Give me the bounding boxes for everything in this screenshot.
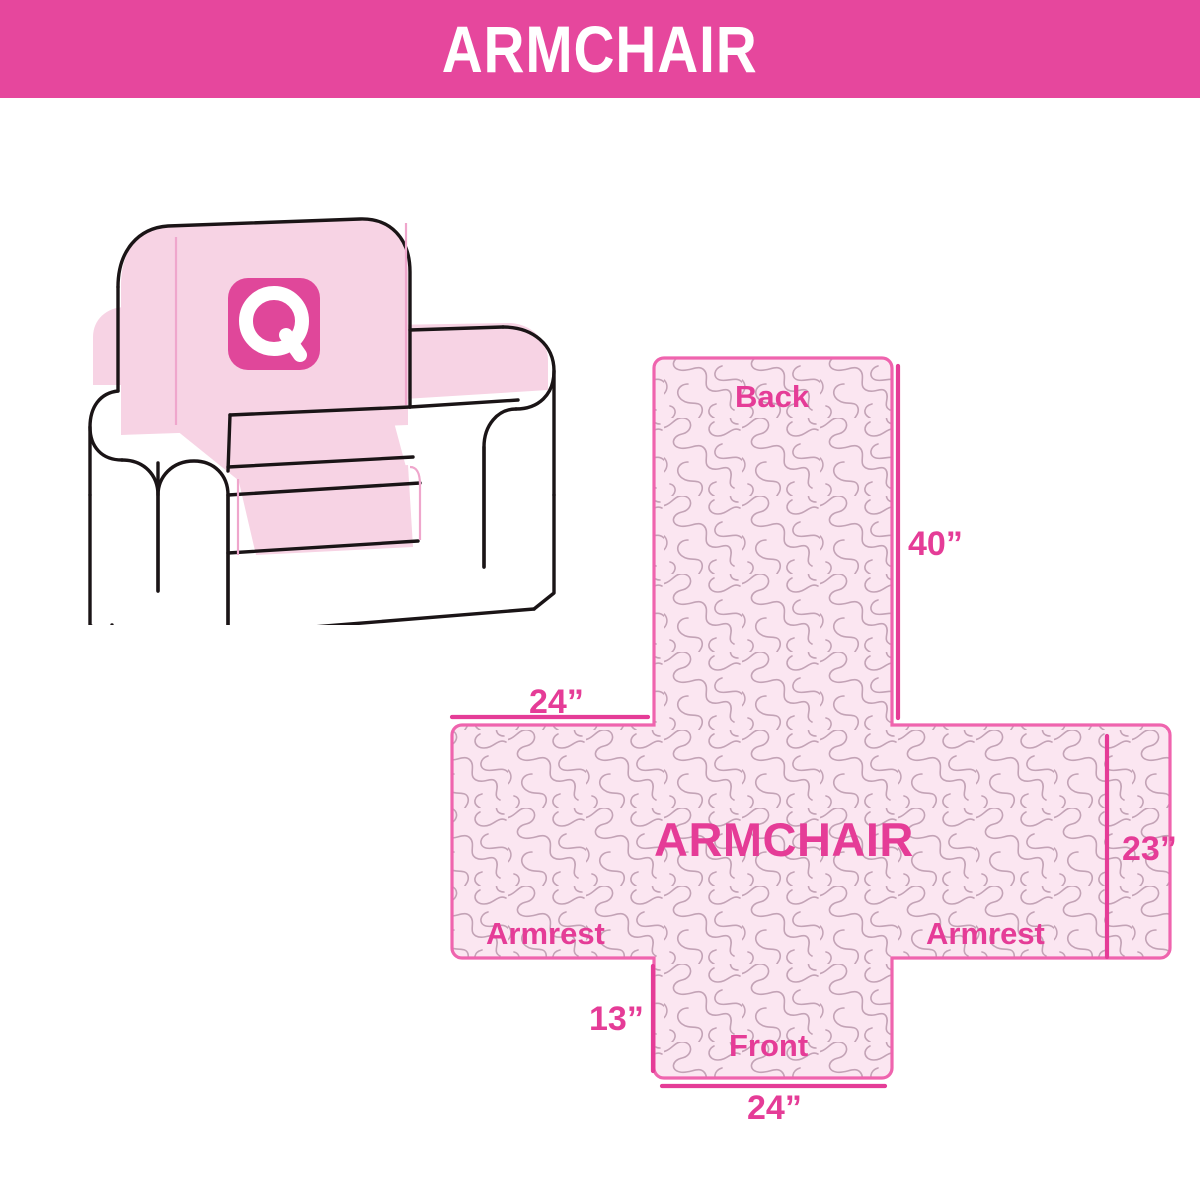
- panel-label-front: Front: [729, 1030, 808, 1061]
- brand-logo-badge: [228, 278, 320, 370]
- page-title: ARMCHAIR: [442, 16, 758, 82]
- panel-label-armrest-right: Armrest: [926, 918, 1045, 949]
- panel-label-armrest-left: Armrest: [486, 918, 605, 949]
- header-banner: ARMCHAIR: [0, 0, 1200, 98]
- dimension-label-armrest-width: 24”: [529, 685, 584, 719]
- page-root: ARMCHAIR: [0, 0, 1200, 1200]
- diagram-center-label: ARMCHAIR: [654, 816, 914, 863]
- dimension-label-back-height: 40”: [908, 527, 963, 561]
- dimension-label-front-width: 24”: [747, 1091, 802, 1125]
- dimension-diagram: [430, 340, 1200, 1140]
- panel-label-back: Back: [735, 381, 809, 412]
- dimension-label-front-height: 13”: [589, 1002, 644, 1036]
- dimension-label-body-depth: 23”: [1122, 832, 1177, 866]
